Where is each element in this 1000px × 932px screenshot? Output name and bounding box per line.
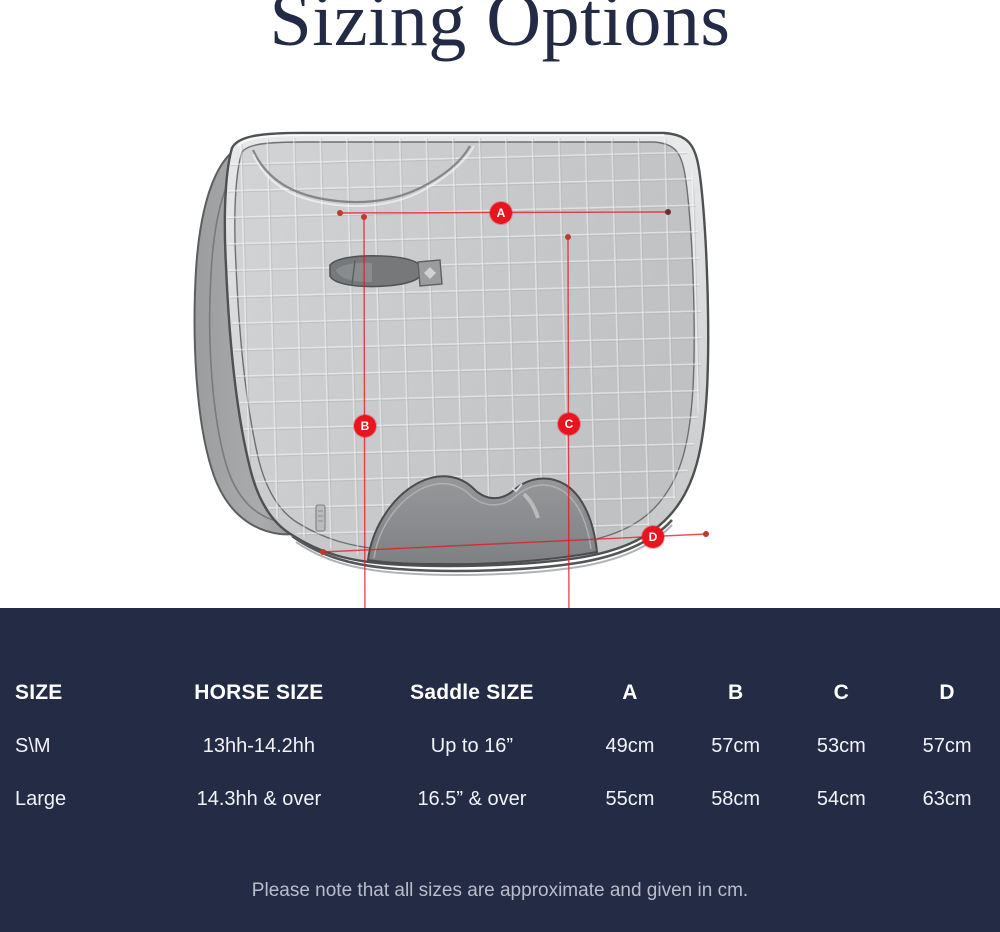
measurement-badge-c: C bbox=[558, 413, 580, 435]
cell-saddle-size: Up to 16” bbox=[367, 720, 577, 773]
cell-horse-size: 13hh-14.2hh bbox=[151, 720, 367, 773]
cell-a: 55cm bbox=[577, 773, 683, 826]
column-header-d: D bbox=[894, 666, 1000, 720]
cell-b: 57cm bbox=[683, 720, 789, 773]
column-header-c: C bbox=[789, 666, 895, 720]
column-header-b: B bbox=[683, 666, 789, 720]
sizing-footnote: Please note that all sizes are approxima… bbox=[0, 880, 1000, 902]
column-header-size: SIZE bbox=[0, 666, 151, 720]
cell-c: 53cm bbox=[789, 720, 895, 773]
cell-size: Large bbox=[0, 773, 151, 826]
cell-d: 57cm bbox=[894, 720, 1000, 773]
column-header-a: A bbox=[577, 666, 683, 720]
saddle-pad-diagram: A B C D bbox=[0, 90, 1000, 608]
cell-a: 49cm bbox=[577, 720, 683, 773]
column-header-saddle-size: Saddle SIZE bbox=[367, 666, 577, 720]
size-chart-table: SIZE HORSE SIZE Saddle SIZE A B C D S\M … bbox=[0, 666, 1000, 826]
cell-c: 54cm bbox=[789, 773, 895, 826]
table-row: S\M 13hh-14.2hh Up to 16” 49cm 57cm 53cm… bbox=[0, 720, 1000, 773]
cell-saddle-size: 16.5” & over bbox=[367, 773, 577, 826]
cell-d: 63cm bbox=[894, 773, 1000, 826]
billet-strap-keeper bbox=[330, 256, 422, 287]
brand-logo-patch bbox=[418, 260, 442, 286]
cell-b: 58cm bbox=[683, 773, 789, 826]
sizing-options-page: Sizing Options bbox=[0, 0, 1000, 932]
column-header-horse-size: HORSE SIZE bbox=[151, 666, 367, 720]
table-row: Large 14.3hh & over 16.5” & over 55cm 58… bbox=[0, 773, 1000, 826]
cell-size: S\M bbox=[0, 720, 151, 773]
side-label-tab bbox=[316, 505, 325, 531]
table-header-row: SIZE HORSE SIZE Saddle SIZE A B C D bbox=[0, 666, 1000, 720]
measurement-badge-b: B bbox=[354, 415, 376, 437]
page-title: Sizing Options bbox=[0, 0, 1000, 58]
measurement-badge-d: D bbox=[642, 526, 664, 548]
measurement-badge-a: A bbox=[490, 202, 512, 224]
saddle-pad-illustration bbox=[0, 90, 1000, 608]
cell-horse-size: 14.3hh & over bbox=[151, 773, 367, 826]
girth-guard-panel bbox=[368, 476, 597, 608]
size-spec-panel: SIZE HORSE SIZE Saddle SIZE A B C D S\M … bbox=[0, 608, 1000, 932]
